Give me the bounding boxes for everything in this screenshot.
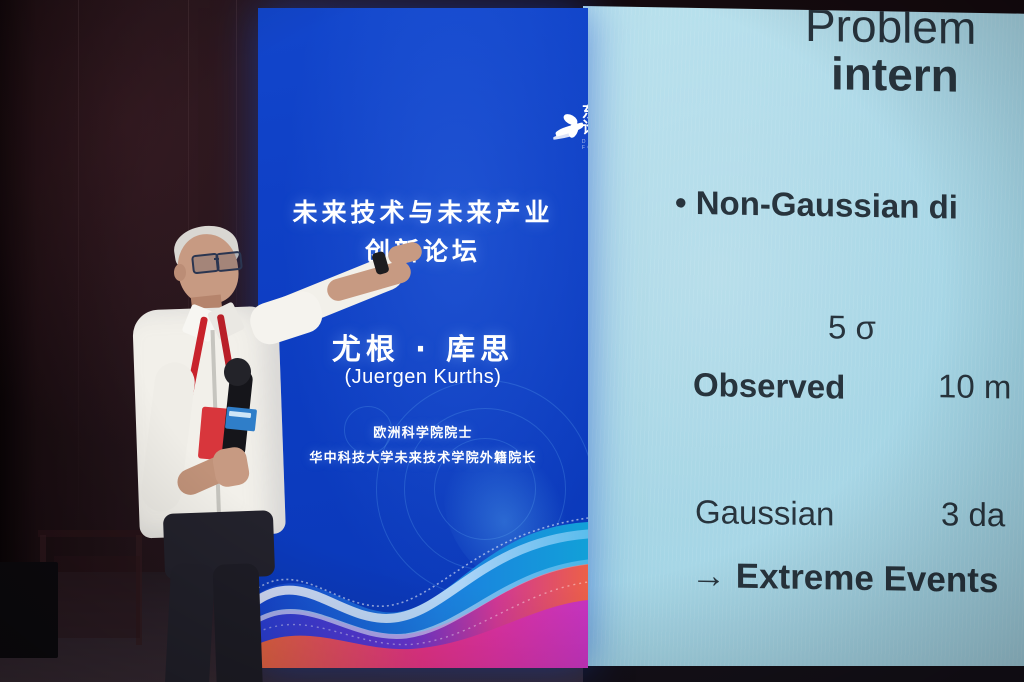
slide-column-header-sigma: 5 σ — [828, 308, 876, 347]
floor-monitor — [0, 562, 58, 658]
donghu-forum-swoosh-icon — [552, 113, 575, 143]
slide-row-label-observed: Observed — [693, 366, 845, 407]
slide-conclusion-extreme-events: → Extreme Events — [691, 556, 998, 601]
speaker-figure — [130, 212, 400, 682]
stage-chair — [54, 556, 140, 638]
slide-row-value-gaussian: 3 da — [941, 495, 1005, 534]
slide-bullet-non-gaussian: • Non-Gaussian di — [675, 184, 958, 227]
slide-row-label-gaussian: Gaussian — [695, 493, 834, 533]
projection-screen: Problem intern • Non-Gaussian di 5 σ Obs… — [583, 6, 1024, 682]
glasses-right-lens — [215, 251, 243, 273]
raised-shoulder-sleeve — [246, 287, 327, 349]
logo-text-en: DONGHU FORUM — [582, 139, 588, 151]
slide-heading-line2: intern — [831, 46, 959, 102]
conference-photo: Problem intern • Non-Gaussian di 5 σ Obs… — [0, 0, 1024, 682]
slide-row-value-observed: 10 m — [938, 367, 1011, 406]
stage-table — [38, 530, 144, 537]
leg-left — [161, 563, 215, 682]
leg-right — [213, 563, 266, 682]
glasses-bridge — [214, 258, 219, 260]
forum-logo: 东湖论坛 DONGHU FORUM — [552, 104, 588, 151]
logo-text-cn: 东湖论坛 — [582, 104, 588, 136]
ear — [174, 264, 186, 281]
screen-lower-frame — [583, 666, 1024, 682]
